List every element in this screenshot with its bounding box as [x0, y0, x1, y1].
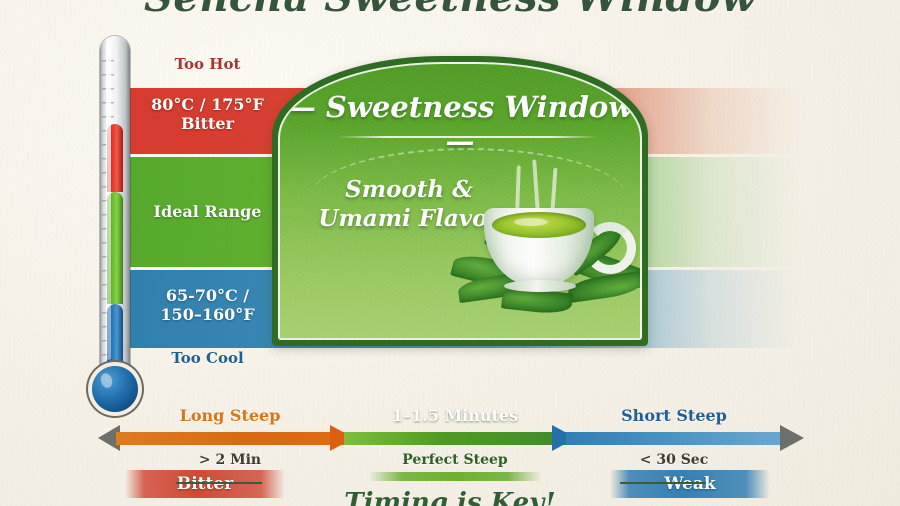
- arrow-right-end-icon: [780, 425, 804, 451]
- label-too-hot: Too Hot: [150, 55, 265, 73]
- infographic-canvas: Sencha Sweetness Window Too Hot Too Cool…: [0, 0, 900, 506]
- label-too-cool: Too Cool: [150, 349, 265, 367]
- value-long-steep-time: > 2 Min: [116, 452, 344, 468]
- footer-rule-left: [176, 482, 262, 484]
- steam-icon: [515, 165, 521, 211]
- value-too-cool-temp: 65-70°C /: [166, 286, 249, 305]
- segment-perfect-steep: [344, 432, 566, 445]
- green-tea-liquid: [492, 212, 586, 238]
- thermometer-glass-highlight: [106, 44, 111, 360]
- page-title: Sencha Sweetness Window: [0, 0, 900, 21]
- steam-icon: [551, 168, 558, 211]
- label-perfect-time: 1–1.5 Minutes: [344, 406, 566, 425]
- steep-timeline: Long Steep 1–1.5 Minutes Short Steep > 2…: [0, 400, 900, 506]
- panel-title-rule: [338, 136, 598, 138]
- label-long-steep: Long Steep: [116, 406, 344, 425]
- value-too-cool-note: 150–160°F: [160, 305, 254, 324]
- panel-subtitle-line1: Smooth &: [345, 176, 473, 203]
- perfect-steep-underline: [368, 472, 542, 481]
- footer-text: Timing is Key!: [0, 488, 900, 506]
- steam-icon: [532, 159, 540, 212]
- teacup-illustration: [456, 164, 642, 340]
- thermometer-icon: [86, 36, 150, 396]
- value-too-hot: 80°C / 175°F Bitter: [150, 96, 265, 134]
- teacup-base: [504, 280, 576, 292]
- footer-rule-right: [620, 482, 706, 484]
- label-perfect-steep: Perfect Steep: [344, 452, 566, 468]
- value-too-cool: 65-70°C / 150–160°F: [150, 287, 265, 325]
- segment-short-steep: [566, 432, 782, 445]
- tea-leaf-icon: [567, 271, 642, 303]
- segment-long-steep: [116, 432, 344, 445]
- value-too-hot-temp: 80°C / 175°F: [151, 95, 264, 114]
- value-ideal: Ideal Range: [150, 203, 265, 222]
- panel-title: — Sweetness Window —: [280, 90, 640, 158]
- value-short-steep-time: < 30 Sec: [566, 452, 782, 468]
- panel-inner: — Sweetness Window — Smooth & Umami Flav…: [278, 62, 642, 340]
- sweetness-window-panel: — Sweetness Window — Smooth & Umami Flav…: [272, 56, 648, 346]
- label-short-steep: Short Steep: [566, 406, 782, 425]
- value-too-hot-note: Bitter: [150, 115, 265, 134]
